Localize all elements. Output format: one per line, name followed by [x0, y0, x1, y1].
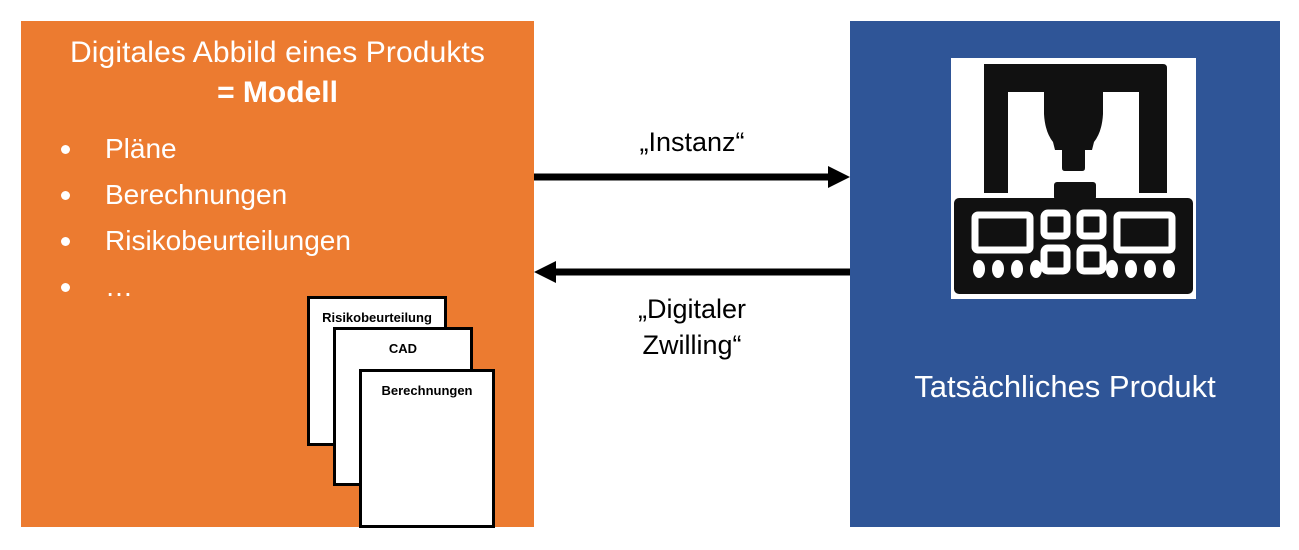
bullet-label: … [105, 271, 133, 302]
product-panel-label: Tatsächliches Produkt [850, 366, 1280, 408]
document-page-label: CAD [336, 341, 470, 357]
bullet-label: Berechnungen [105, 179, 287, 210]
list-item: Risikobeurteilungen [43, 218, 513, 264]
model-panel: Digitales Abbild eines Produkts = Modell… [21, 21, 534, 527]
list-item: Berechnungen [43, 172, 513, 218]
diagram-canvas: Digitales Abbild eines Produkts = Modell… [0, 0, 1299, 550]
connector-label-instanz: „Instanz“ [534, 124, 850, 160]
bullet-label: Risikobeurteilungen [105, 225, 351, 256]
model-panel-title: Digitales Abbild eines Produkts [21, 33, 534, 73]
document-page-berechnungen: Berechnungen [359, 369, 495, 528]
arrow-instanz-right [534, 165, 850, 189]
document-page-label: Risikobeurteilung [310, 310, 444, 326]
bullet-label: Pläne [105, 133, 177, 164]
product-panel: Tatsächliches Produkt [850, 21, 1280, 527]
model-panel-subtitle: = Modell [21, 73, 534, 113]
bullet-dot-icon [61, 237, 70, 246]
arrow-digitaler-zwilling-left [534, 260, 850, 284]
bullet-dot-icon [61, 145, 70, 154]
model-bullet-list: Pläne Berechnungen Risikobeurteilungen … [43, 126, 513, 310]
connector-label-digitaler-zwilling: „Digitaler Zwilling“ [534, 291, 850, 363]
machine-icon-box [951, 58, 1196, 299]
cnc-machine-icon [951, 58, 1196, 299]
document-page-label: Berechnungen [362, 383, 492, 399]
list-item: Pläne [43, 126, 513, 172]
bullet-dot-icon [61, 191, 70, 200]
bullet-dot-icon [61, 283, 70, 292]
